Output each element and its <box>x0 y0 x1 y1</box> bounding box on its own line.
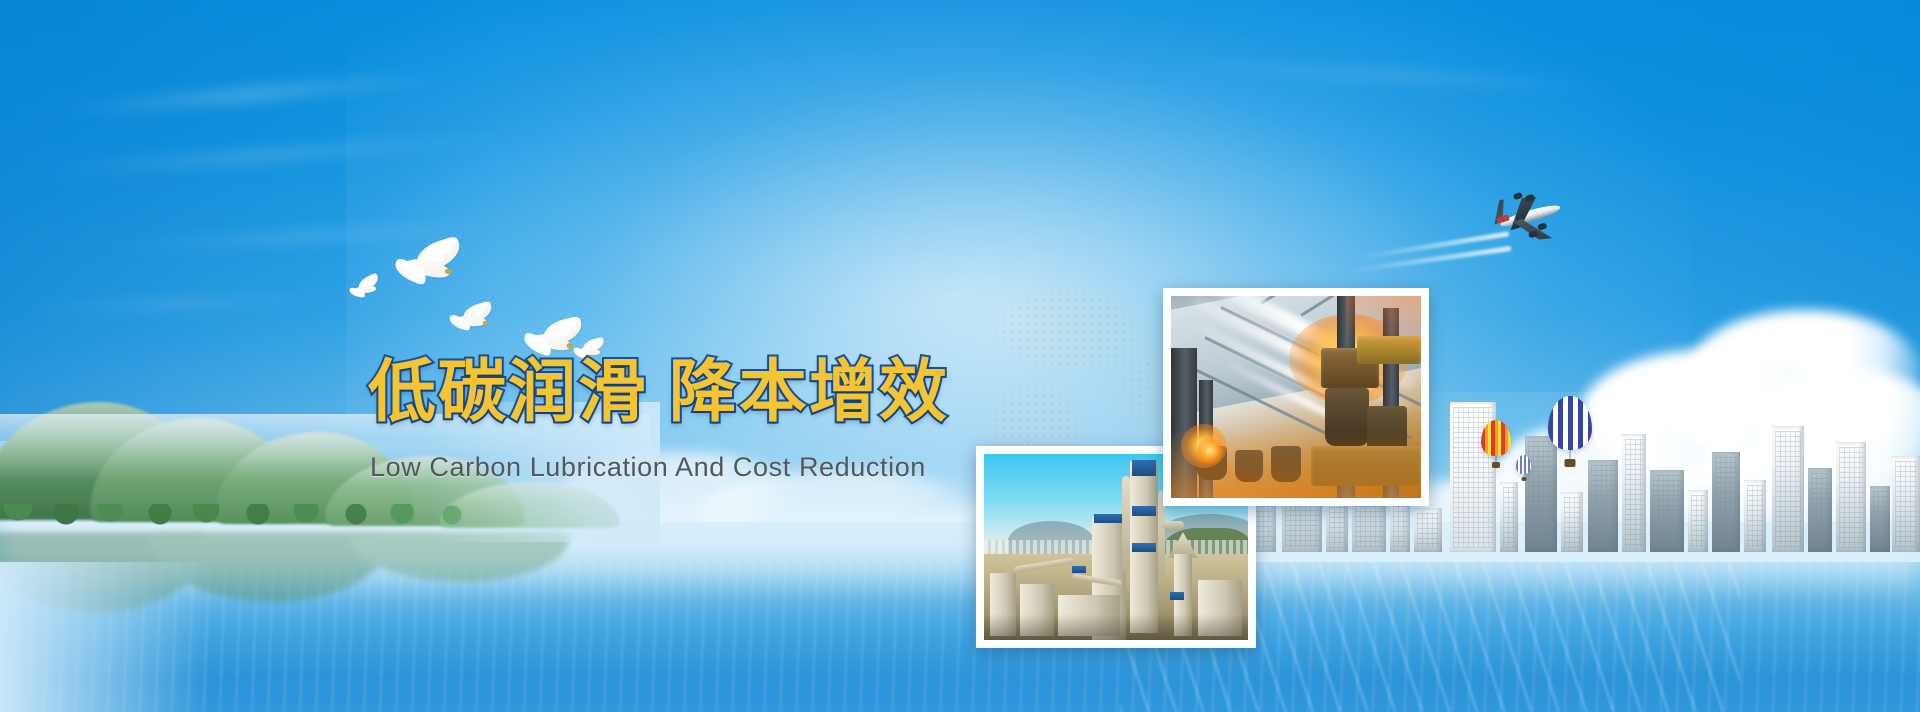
city-left-fade <box>0 562 210 712</box>
dove-icon <box>390 241 471 297</box>
subtitle-text: Low Carbon Lubrication And Cost Reductio… <box>370 452 926 483</box>
balloon-tiny <box>1516 455 1531 481</box>
photo-steel-mill[interactable] <box>1163 288 1429 506</box>
photo-steel-mill-image <box>1171 296 1421 498</box>
dove-icon <box>347 277 382 301</box>
headline-text: 低碳润滑 降本增效 <box>368 358 949 426</box>
banner-root: 低碳润滑 降本增效 Low Carbon Lubrication And Cos… <box>0 0 1920 712</box>
balloon-small-warm <box>1481 420 1511 470</box>
balloon-large-blue <box>1548 396 1592 468</box>
dove-icon <box>447 304 497 337</box>
